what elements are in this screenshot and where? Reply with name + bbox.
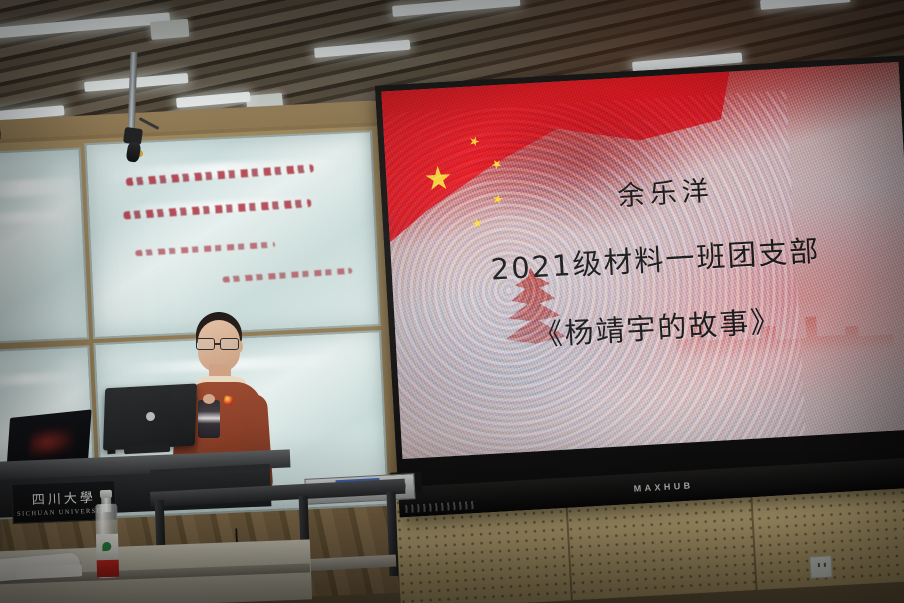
water-bottle[interactable] <box>95 490 119 579</box>
maxhub-display[interactable]: 余乐洋 2021级材料一班团支部 《杨靖宇的故事》 MAXHUB <box>375 55 904 517</box>
display-bezel: 余乐洋 2021级材料一班团支部 《杨靖宇的故事》 MAXHUB <box>375 55 904 517</box>
bottle-label <box>96 534 119 561</box>
plaque-chinese-text: 四川大學 <box>31 487 96 508</box>
bottle-neck <box>101 496 111 512</box>
whiteboard-handwriting-line <box>222 268 352 283</box>
power-outlet[interactable] <box>809 555 832 578</box>
bottle-label-red-band <box>97 560 119 578</box>
ceiling-light-fixture <box>150 19 189 40</box>
maxhub-brand-label: MAXHUB <box>633 480 693 493</box>
party-emblem-badge-icon <box>223 395 234 406</box>
whiteboard-handwriting-line <box>135 242 275 257</box>
whiteboard-panel-upper-left <box>0 147 89 344</box>
whiteboard-glare <box>0 372 75 386</box>
whiteboard-glare <box>0 210 64 224</box>
glasses-lens-right <box>220 338 239 350</box>
slide-organization: 2021级材料一班团支部 <box>401 222 904 293</box>
bottle-body <box>95 504 119 579</box>
whiteboard-handwriting-line <box>123 199 311 219</box>
bottle-cap[interactable] <box>100 490 112 498</box>
glasses-icon <box>196 338 242 350</box>
glasses-bridge <box>215 343 220 345</box>
display-screen[interactable]: 余乐洋 2021级材料一班团支部 《杨靖宇的故事》 <box>381 62 904 459</box>
slide-text-block: 余乐洋 2021级材料一班团支部 《杨靖宇的故事》 <box>387 157 904 362</box>
whiteboard-glare <box>0 178 79 199</box>
sweater-graphic-print <box>198 400 220 438</box>
whiteboard-panel-upper-main <box>84 130 381 339</box>
whiteboard-handwriting-line <box>126 164 314 186</box>
classroom-presentation-photo: 余乐洋 2021级材料一班团支部 《杨靖宇的故事》 MAXHUB <box>0 0 904 603</box>
ir-sensor-strip <box>405 501 475 513</box>
laptop-screen <box>29 426 75 459</box>
glasses-lens-left <box>196 338 215 350</box>
bottle-label-leaf-icon <box>102 542 111 551</box>
